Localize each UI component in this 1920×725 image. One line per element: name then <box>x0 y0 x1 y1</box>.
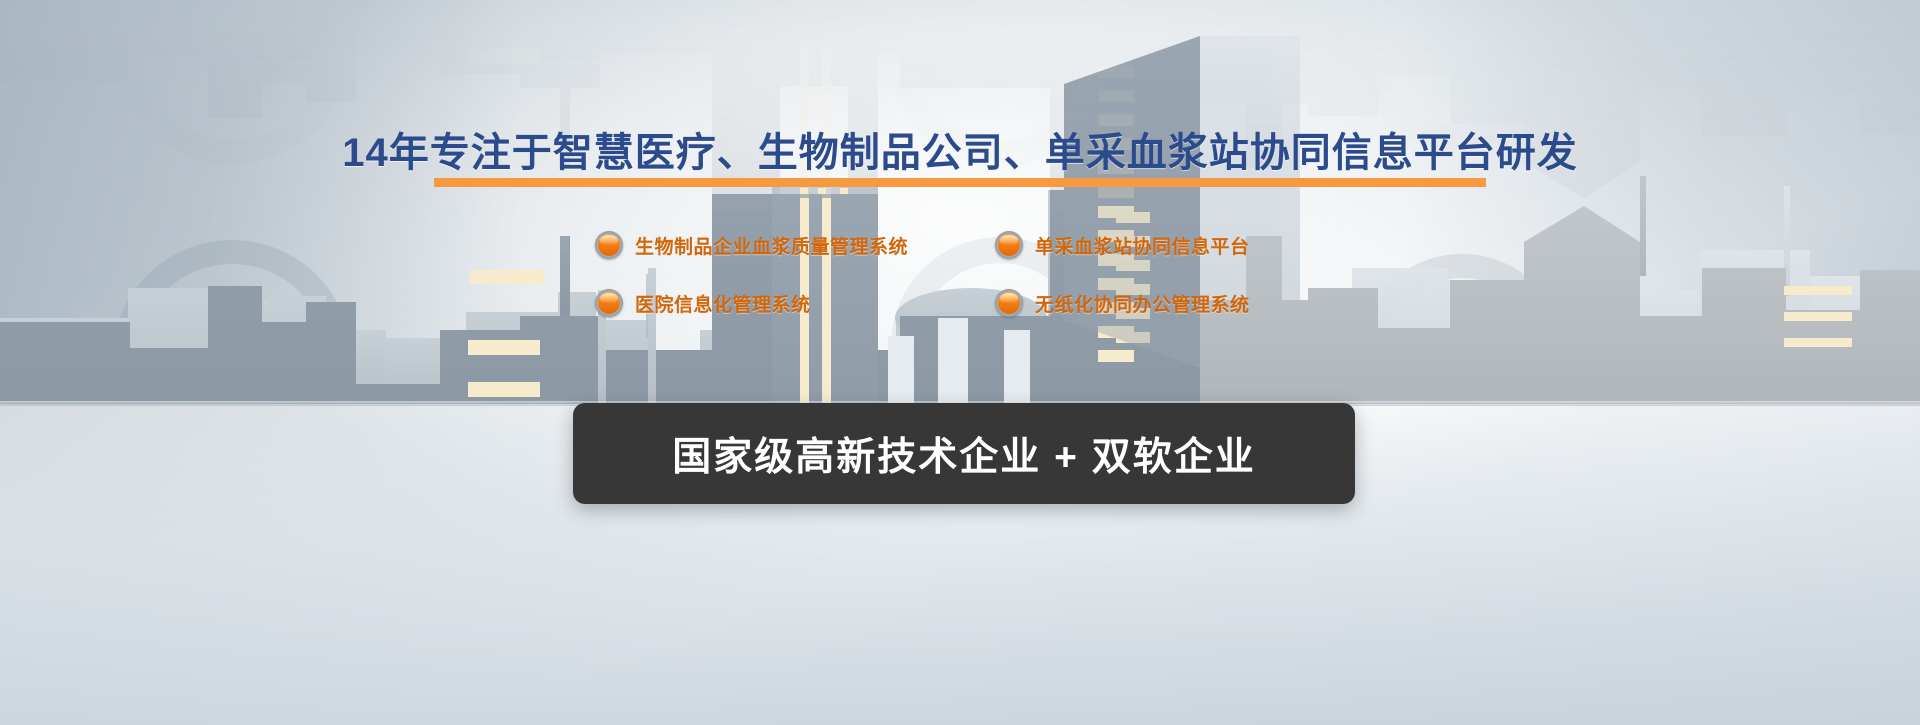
orange-sphere-bullet-icon <box>595 231 623 259</box>
feature-item-paperless-office[interactable]: 无纸化协同办公管理系统 <box>995 286 1355 320</box>
light-gap-blocks <box>888 318 1030 404</box>
status-badge: 国家级高新技术企业 + 双软企业 <box>573 403 1355 504</box>
feature-item-plasma-quality[interactable]: 生物制品企业血浆质量管理系统 <box>595 228 995 262</box>
feature-item-label: 医院信息化管理系统 <box>635 290 811 317</box>
feature-item-label: 生物制品企业血浆质量管理系统 <box>635 232 908 259</box>
status-badge-label: 国家级高新技术企业 + 双软企业 <box>672 426 1255 482</box>
hero-banner: 14年专注于智慧医疗、生物制品公司、单采血浆站协同信息平台研发 生物制品企业血浆… <box>0 0 1920 725</box>
feature-list: 生物制品企业血浆质量管理系统 单采血浆站协同信息平台 医院信息化管理系统 无纸化… <box>595 228 1355 320</box>
angled-tower <box>1048 36 1200 404</box>
decorative-ring-right <box>1368 266 1556 404</box>
city-skyline-artwork <box>0 0 1920 725</box>
orange-sphere-bullet-icon <box>595 289 623 317</box>
headline-accent-rule <box>434 178 1486 187</box>
foreground-silhouette <box>0 36 1200 404</box>
decorative-ring-left <box>124 252 340 404</box>
orange-sphere-bullet-icon <box>995 289 1023 317</box>
window-bars-right <box>1784 286 1852 347</box>
sky-left-shade <box>0 0 520 400</box>
city-skyline-reflection <box>0 0 1920 404</box>
city-skyline-svg <box>0 0 1920 404</box>
window-bars-foreground-left <box>468 340 540 404</box>
antenna-left <box>560 236 569 316</box>
orange-sphere-bullet-icon <box>995 231 1023 259</box>
feature-item-label: 单采血浆站协同信息平台 <box>1035 232 1250 259</box>
far-building-cluster <box>1064 36 1920 404</box>
page-title: 14年专注于智慧医疗、生物制品公司、单采血浆站协同信息平台研发 <box>0 120 1920 178</box>
feature-item-label: 无纸化协同办公管理系统 <box>1035 290 1250 317</box>
window-ladder-a <box>470 270 544 284</box>
antenna-right <box>1640 176 1646 276</box>
feature-item-plasma-station-platform[interactable]: 单采血浆站协同信息平台 <box>995 228 1355 262</box>
sky-right-shade <box>1400 0 1920 400</box>
feature-item-hospital-information[interactable]: 医院信息化管理系统 <box>595 286 995 320</box>
